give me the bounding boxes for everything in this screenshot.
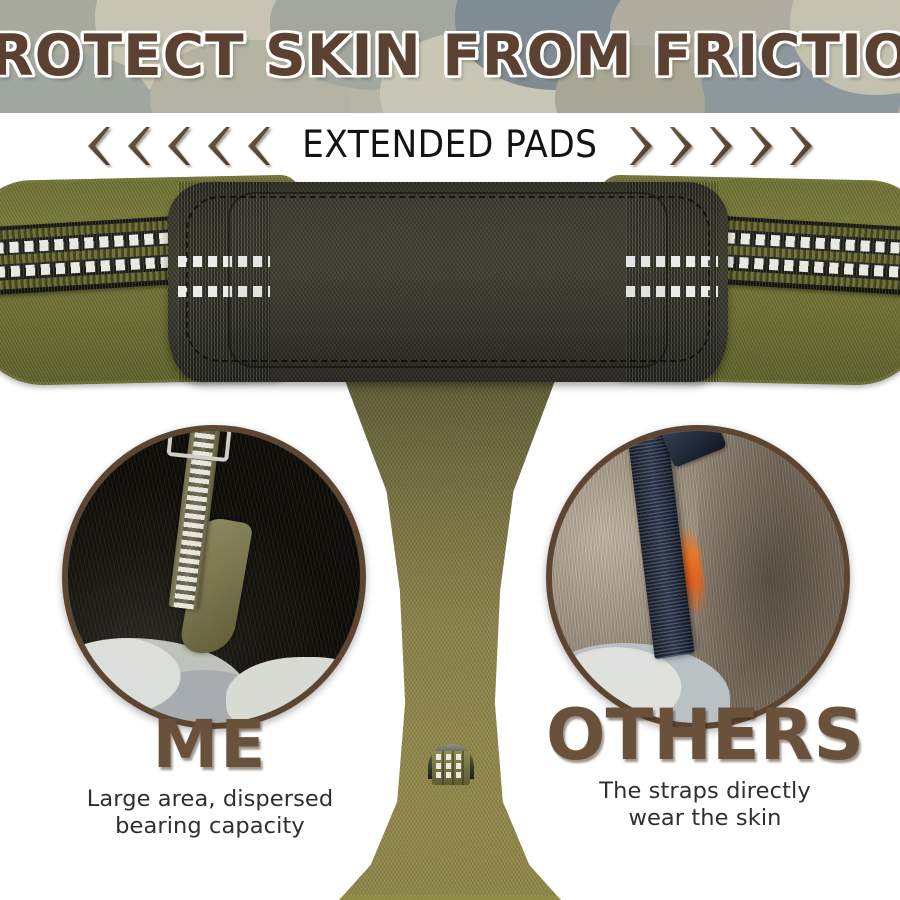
chest-pad-stitching [186,196,710,362]
chevron-right-icon [670,127,696,165]
extended-chest-pad [168,182,728,382]
others-badge: OTHERS [510,700,900,770]
others-caption-line1: The straps directly [510,778,900,805]
comparison-photo-me [62,425,366,729]
comparison-photo-others [546,425,850,729]
me-badge: ME [30,712,390,778]
extended-pads-banner: EXTENDED PADS [0,118,900,174]
header-banner: PROTECT SKIN FROM FRICTION [0,0,900,113]
metal-loop-icon [166,425,231,462]
others-label-block: OTHERS The straps directly wear the skin [510,700,900,832]
me-photo-inner [68,431,360,723]
others-photo-inner [552,431,844,723]
extended-pads-label: EXTENDED PADS [302,126,597,166]
me-caption-line1: Large area, dispersed [30,786,390,813]
chevron-left-icon [124,127,150,165]
me-caption-line2: bearing capacity [30,813,390,840]
chevron-left-icon [244,127,270,165]
page-title: PROTECT SKIN FROM FRICTION [5,0,900,113]
others-caption-line2: wear the skin [510,805,900,832]
infographic-canvas: PROTECT SKIN FROM FRICTION EXTENDED PADS [0,0,900,900]
chevrons-left-group [77,127,277,165]
page-title-text: PROTECT SKIN FROM FRICTION [0,28,900,85]
d-ring-icon [418,721,484,793]
chevron-right-icon [790,127,816,165]
chevron-left-icon [204,127,230,165]
chevron-left-icon [84,127,110,165]
others-caption: The straps directly wear the skin [510,778,900,832]
me-caption: Large area, dispersed bearing capacity [30,786,390,840]
chevrons-right-group [623,127,823,165]
chevron-right-icon [630,127,656,165]
chevron-left-icon [164,127,190,165]
me-label-block: ME Large area, dispersed bearing capacit… [30,712,390,840]
chevron-right-icon [750,127,776,165]
chevron-right-icon [710,127,736,165]
